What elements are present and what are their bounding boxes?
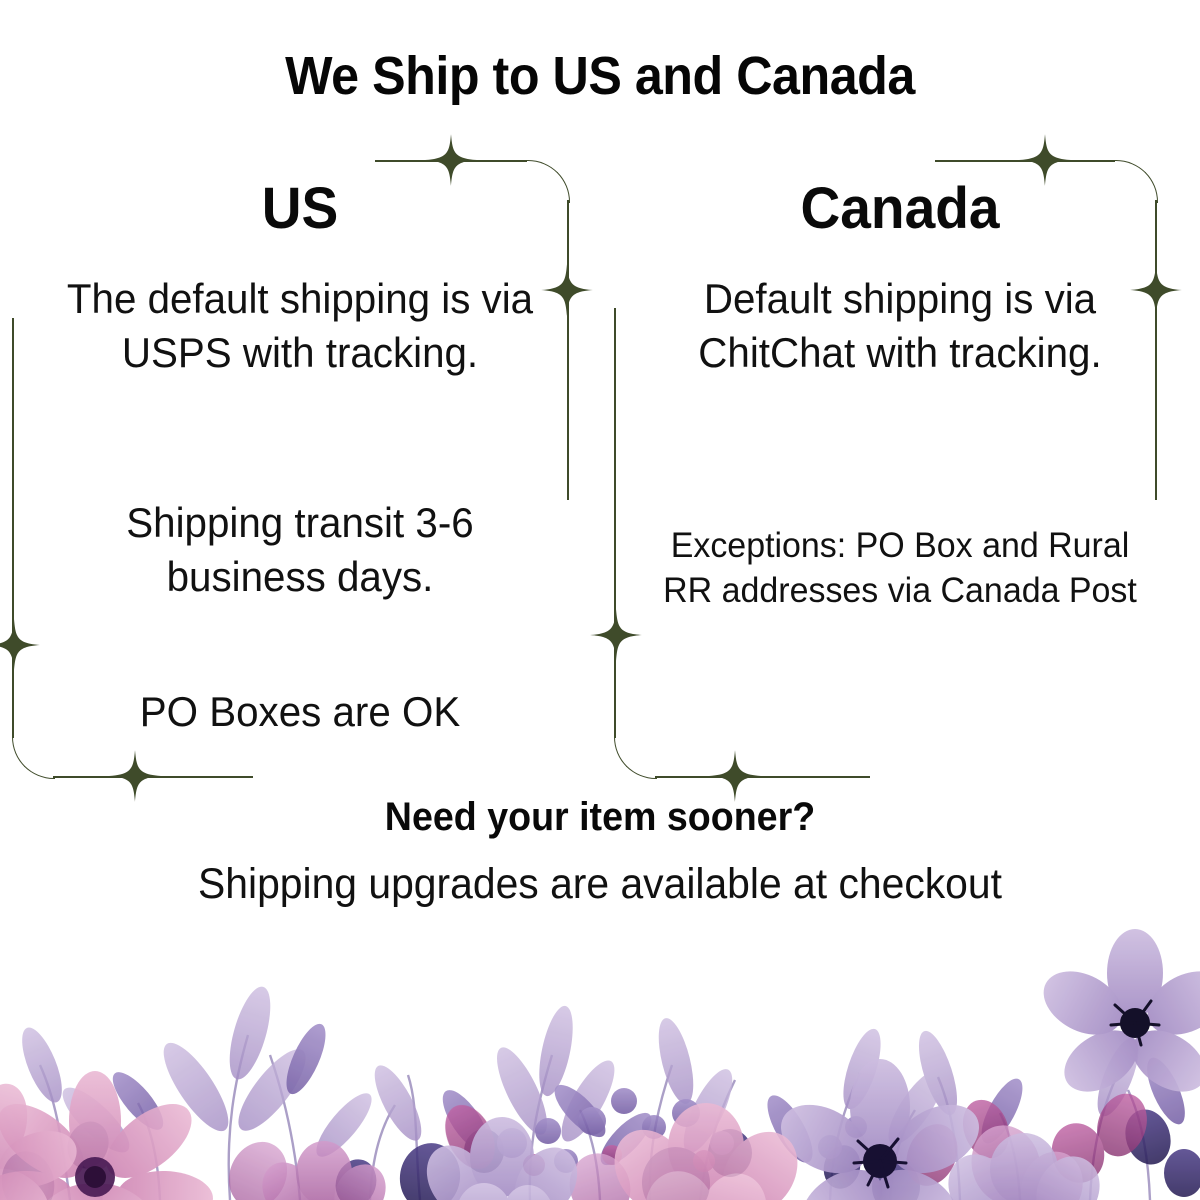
page-title: We Ship to US and Canada <box>42 45 1158 107</box>
flower-bloom <box>1033 929 1200 1104</box>
sparkle-icon <box>0 618 41 672</box>
shipping-info-graphic: We Ship to US and Canada <box>0 0 1200 1200</box>
canada-default-shipping-text: Default shipping is via ChitChat with tr… <box>612 272 1188 380</box>
floral-border-decoration <box>0 915 1200 1200</box>
cta-subtext: Shipping upgrades are available at check… <box>30 860 1170 909</box>
cta-question: Need your item sooner? <box>36 795 1164 840</box>
us-transit-time-text: Shipping transit 3-6 business days. <box>12 496 588 604</box>
canada-exceptions-text: Exceptions: PO Box and Rural RR addresse… <box>609 524 1191 614</box>
us-column-heading: US <box>15 175 585 242</box>
us-default-shipping-text: The default shipping is via USPS with tr… <box>12 272 588 380</box>
sparkle-icon <box>589 608 643 662</box>
canada-column-heading: Canada <box>615 175 1185 242</box>
us-po-box-text: PO Boxes are OK <box>12 685 588 739</box>
